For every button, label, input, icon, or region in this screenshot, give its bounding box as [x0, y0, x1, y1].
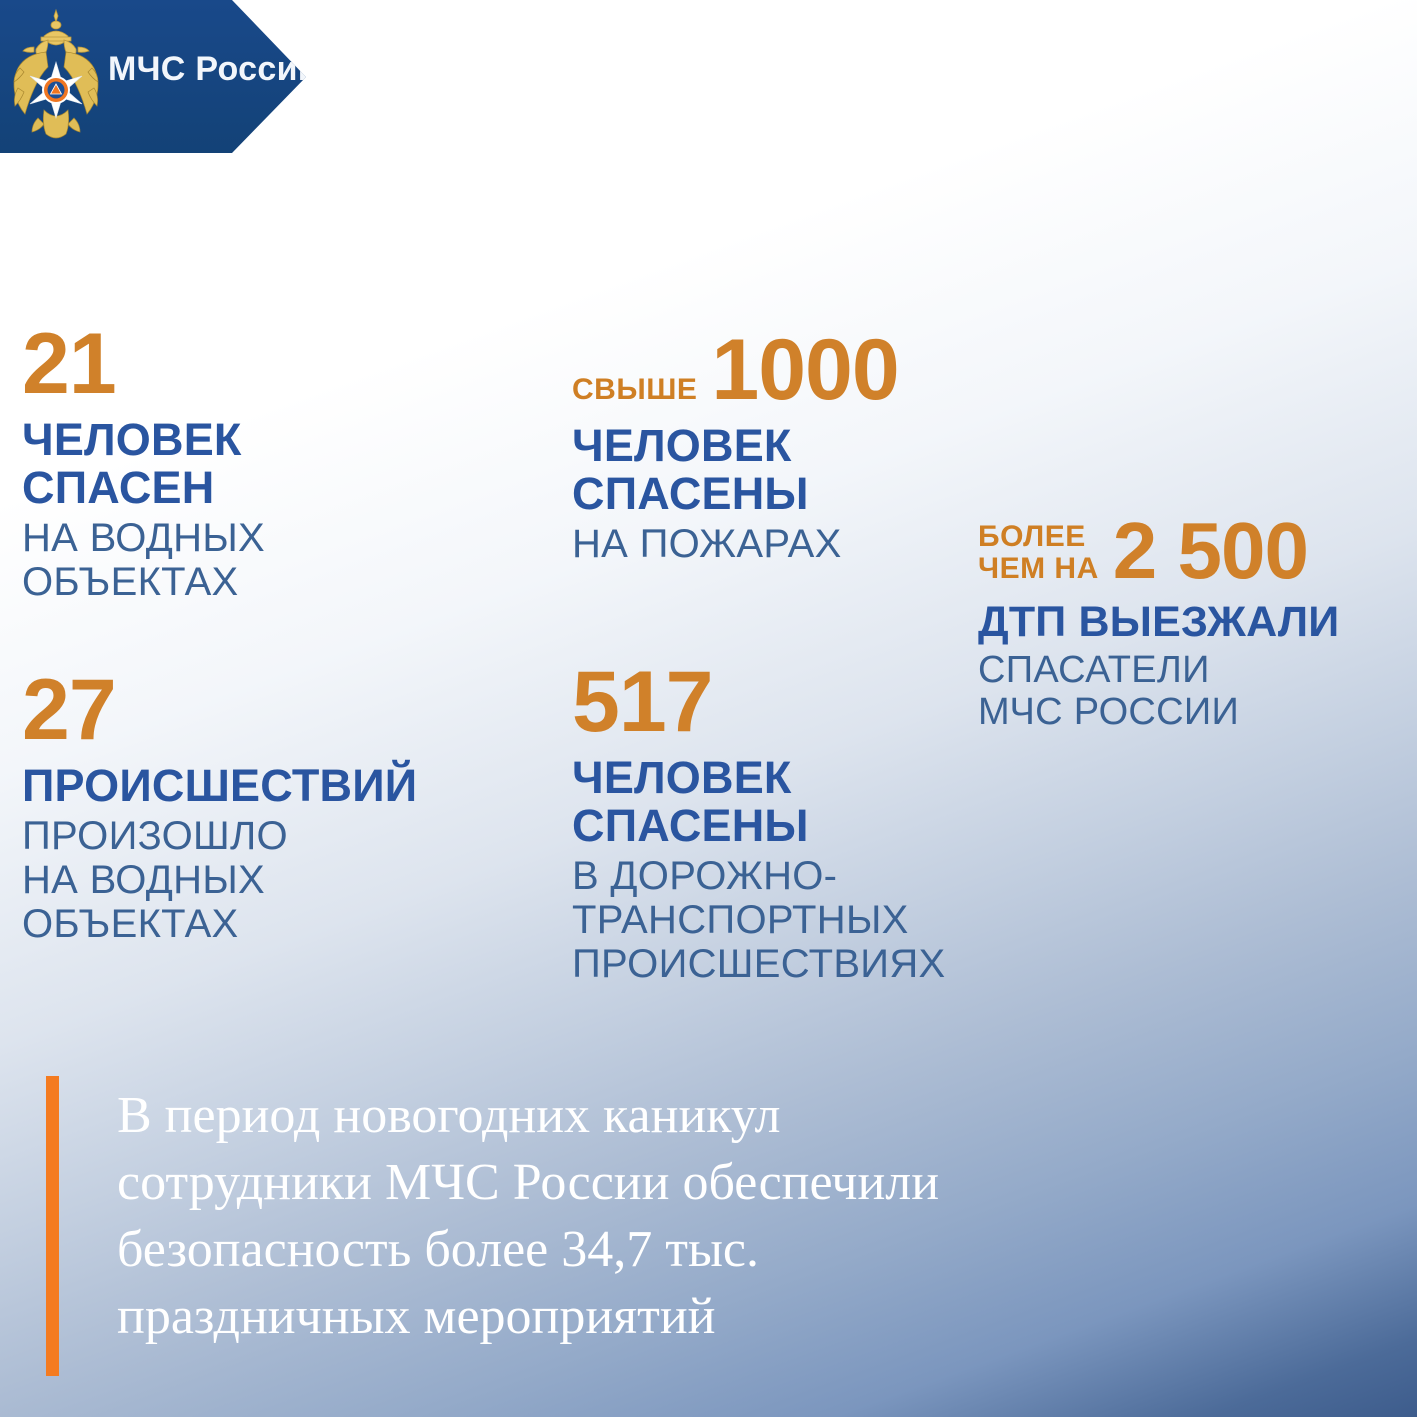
caption-text: В период новогодних каникул сотрудники М… [117, 1076, 939, 1376]
emercom-eagle-emblem-icon [8, 6, 104, 146]
stat-label-bold: ПРОИСШЕСТВИЙ [22, 762, 417, 810]
caption-block: В период новогодних каникул сотрудники М… [46, 1076, 1376, 1376]
stat-number: 2 500 [1113, 512, 1308, 590]
banner-title: МЧС России [108, 50, 319, 89]
stat-prefix: СВЫШЕ [572, 375, 697, 405]
stat-label-bold: ЧЕЛОВЕК СПАСЕН [22, 416, 265, 511]
stat-prefix: БОЛЕЕ ЧЕМ НА [978, 521, 1099, 585]
caption-accent-bar [46, 1076, 59, 1376]
stat-block-people-rescued-fires: СВЫШЕ 1000 ЧЕЛОВЕК СПАСЕНЫ НА ПОЖАРАХ [572, 328, 899, 566]
stat-number-row: 517 [572, 660, 946, 744]
stat-number-row: СВЫШЕ 1000 [572, 328, 899, 412]
stat-label-bold: ЧЕЛОВЕК СПАСЕНЫ [572, 422, 899, 517]
stat-label-bold: ДТП ВЫЕЗЖАЛИ [978, 600, 1339, 646]
stat-number: 21 [22, 322, 116, 406]
stat-block-people-rescued-water: 21 ЧЕЛОВЕК СПАСЕН НА ВОДНЫХ ОБЪЕКТАХ [22, 322, 265, 604]
stat-number: 1000 [711, 328, 898, 412]
header-banner: МЧС России [0, 0, 306, 153]
stat-label-sub: В ДОРОЖНО- ТРАНСПОРТНЫХ ПРОИСШЕСТВИЯХ [572, 854, 946, 986]
stat-block-incidents-water: 27 ПРОИСШЕСТВИЙ ПРОИЗОШЛО НА ВОДНЫХ ОБЪЕ… [22, 668, 417, 946]
stat-label-sub: ПРОИЗОШЛО НА ВОДНЫХ ОБЪЕКТАХ [22, 814, 417, 946]
stat-number-row: 21 [22, 322, 265, 406]
stat-label-bold: ЧЕЛОВЕК СПАСЕНЫ [572, 754, 946, 849]
stat-number: 27 [22, 668, 116, 752]
stat-number: 517 [572, 660, 713, 744]
stat-number-row: БОЛЕЕ ЧЕМ НА 2 500 [978, 512, 1339, 590]
stat-label-sub: НА ВОДНЫХ ОБЪЕКТАХ [22, 516, 265, 604]
stat-label-sub: НА ПОЖАРАХ [572, 522, 899, 566]
stat-label-sub: СПАСАТЕЛИ МЧС РОССИИ [978, 650, 1339, 734]
infographic-poster: МЧС России 21 ЧЕЛОВЕК СПАСЕН НА ВОДНЫХ О… [0, 0, 1417, 1417]
stat-block-people-rescued-road: 517 ЧЕЛОВЕК СПАСЕНЫ В ДОРОЖНО- ТРАНСПОРТ… [572, 660, 946, 986]
stat-number-row: 27 [22, 668, 417, 752]
stat-block-traffic-accidents-responses: БОЛЕЕ ЧЕМ НА 2 500 ДТП ВЫЕЗЖАЛИ СПАСАТЕЛ… [978, 512, 1339, 734]
